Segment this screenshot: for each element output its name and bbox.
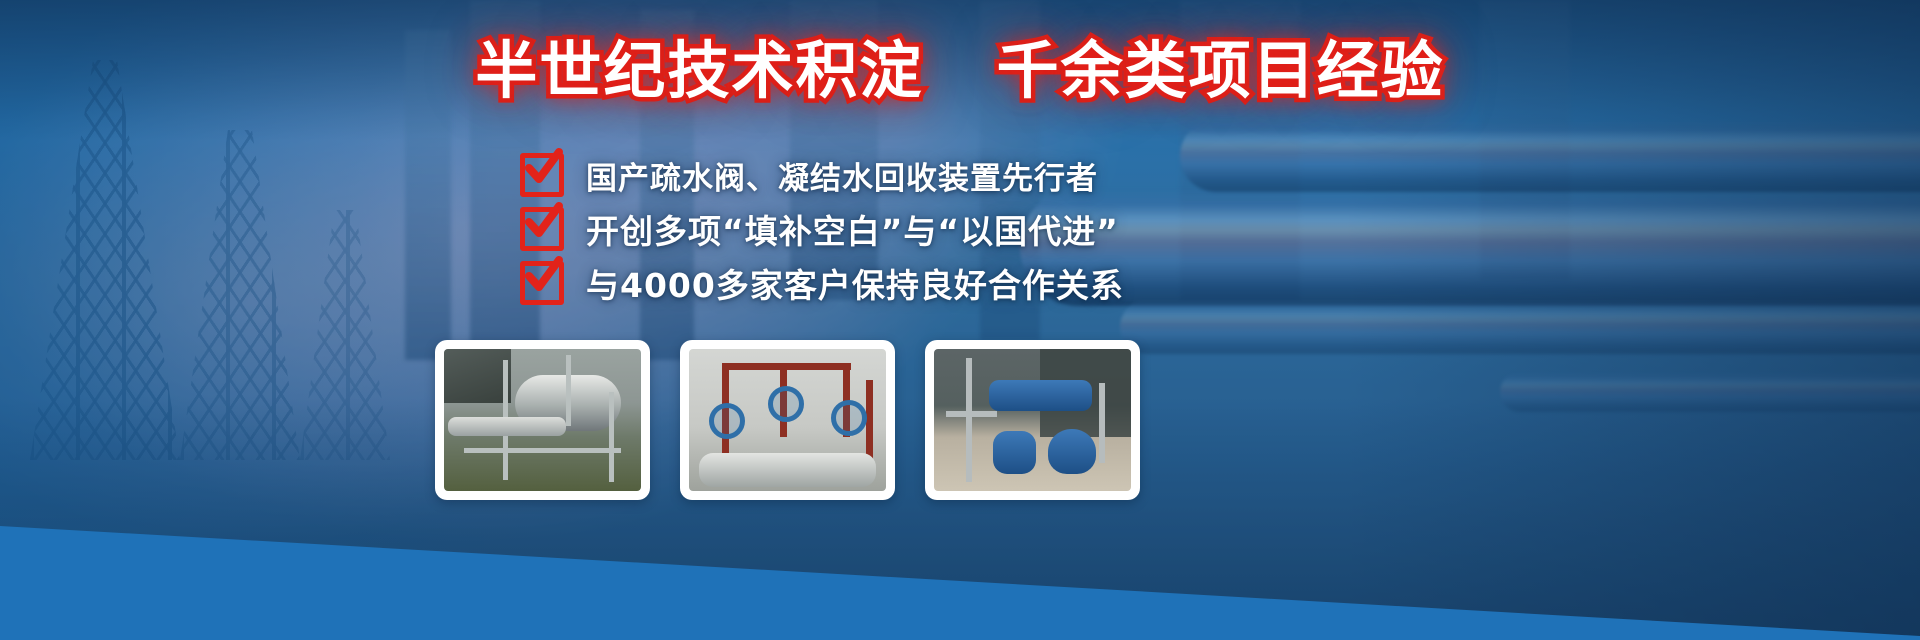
feature-item-2: 开创多项“填补空白”与“以国代进”	[520, 206, 1124, 252]
feature-item-1: 国产疏水阀、凝结水回收装置先行者	[520, 152, 1124, 198]
checkbox-checked-icon	[520, 207, 564, 251]
photo-red-pipework-valves	[689, 349, 886, 491]
feature-item-1-label: 国产疏水阀、凝结水回收装置先行者	[586, 153, 1098, 198]
headline-part-1: 半世纪技术积淀	[475, 34, 923, 107]
photo-card-3[interactable]	[925, 340, 1140, 500]
feature-item-2-label: 开创多项“填补空白”与“以国代进”	[586, 205, 1119, 253]
page-title: 半世纪技术积淀 千余类项目经验	[0, 38, 1920, 103]
photo-card-list	[435, 340, 1140, 500]
feature-item-3: 与4000多家客户保持良好合作关系	[520, 260, 1124, 306]
promo-banner: 半世纪技术积淀 千余类项目经验 国产疏水阀、凝结水回收装置先行者 开创多项“填补…	[0, 0, 1920, 640]
feature-list: 国产疏水阀、凝结水回收装置先行者 开创多项“填补空白”与“以国代进” 与4000…	[520, 152, 1124, 314]
photo-card-1[interactable]	[435, 340, 650, 500]
feature-item-3-label: 与4000多家客户保持良好合作关系	[586, 259, 1124, 307]
photo-condensate-recovery-vessel	[444, 349, 641, 491]
headline-part-2: 千余类项目经验	[997, 34, 1445, 107]
checkbox-checked-icon	[520, 153, 564, 197]
photo-card-2[interactable]	[680, 340, 895, 500]
photo-blue-pressure-vessels	[934, 349, 1131, 491]
checkbox-checked-icon	[520, 261, 564, 305]
